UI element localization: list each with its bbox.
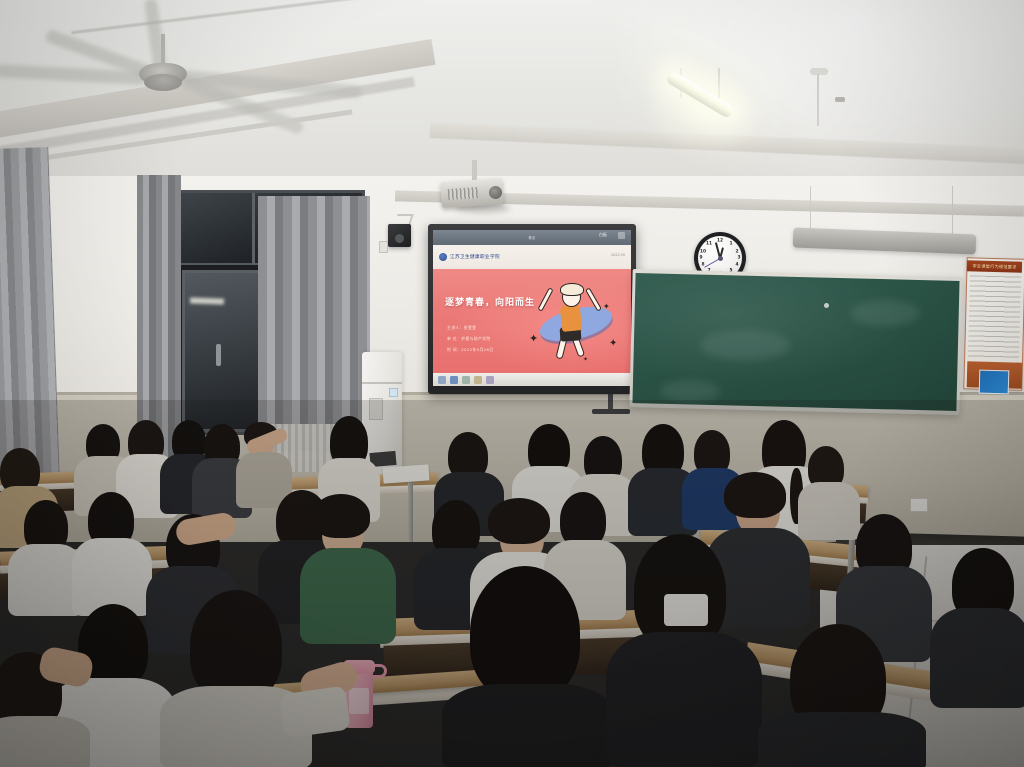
desk-leg xyxy=(408,482,413,542)
clock-number: 12 xyxy=(717,239,723,244)
sparkle-icon: ✦ xyxy=(603,303,610,311)
poster-body-text xyxy=(968,275,1021,358)
air-conditioner-seam xyxy=(362,382,402,384)
clock-number: 9 xyxy=(699,256,702,261)
chalk-smudge xyxy=(700,330,790,360)
notes-icon[interactable] xyxy=(474,376,482,384)
ceiling-fan-hub xyxy=(144,74,182,91)
clock-number: 1 xyxy=(729,242,732,247)
speaker-cone-icon xyxy=(395,234,404,243)
ceiling-pipe-cap xyxy=(810,68,828,75)
wall-junction-box xyxy=(379,241,388,253)
smart-board-screen[interactable]: 希沃 白板 PPT 放映 批注 江苏卫生健康职业学院 2022.09 xyxy=(433,230,631,386)
slide-meta-date: 时 间：2022年9月26日 xyxy=(447,347,494,353)
chalk-smudge xyxy=(660,380,720,402)
slide-meta-unit: 单 位：护理与助产学院 xyxy=(447,336,494,342)
poster-heading: 学生课堂行为规范要求 xyxy=(967,260,1022,272)
air-conditioner-panel xyxy=(369,398,383,420)
curtain-right[interactable] xyxy=(258,196,370,451)
clock-number: 4 xyxy=(735,263,738,268)
sparkle-icon: ✦ xyxy=(583,357,588,363)
slide-title: 逐梦青春，向阳而生 xyxy=(445,295,535,308)
power-outlet-icon[interactable] xyxy=(910,498,928,512)
clock-number: 11 xyxy=(706,242,712,247)
illustration-shirt xyxy=(560,304,583,332)
smartboard-close-icon[interactable] xyxy=(618,232,625,239)
smartboard-taskbar xyxy=(433,373,631,386)
qr-code-icon xyxy=(979,370,1010,395)
ceiling-sensor-icon xyxy=(835,97,845,102)
bottle-label xyxy=(349,688,369,714)
ceiling-light-wash xyxy=(604,0,1024,200)
clock-number: 2 xyxy=(735,250,738,255)
paper-sheet xyxy=(382,464,429,483)
ceiling-pipe xyxy=(817,74,819,126)
window-handle[interactable] xyxy=(216,344,221,366)
slide-school-name: 江苏卫生健康职业学院 xyxy=(450,254,500,260)
sparkle-icon: ✦ xyxy=(529,333,538,344)
blackboard-light-wire xyxy=(810,186,811,234)
slide-meta-speaker: 主讲人：张雯雯 xyxy=(447,325,494,331)
settings-icon[interactable] xyxy=(486,376,494,384)
folder-icon[interactable] xyxy=(462,376,470,384)
chalkboard-magnet-icon xyxy=(824,303,829,308)
presentation-slide: 江苏卫生健康职业学院 2022.09 ✦ ✦ ✦ ✦ 逐梦青春，向阳而生 xyxy=(433,245,631,373)
air-conditioner-display xyxy=(389,388,398,397)
window-glare xyxy=(190,297,224,304)
smartboard-title: 希沃 xyxy=(529,235,536,240)
sleeve xyxy=(279,686,350,739)
smartboard-tab[interactable]: 白板 xyxy=(599,232,607,238)
clock-number: 10 xyxy=(700,250,706,255)
projector-vent xyxy=(448,187,479,200)
school-logo-icon xyxy=(439,253,447,261)
sparkle-icon: ✦ xyxy=(609,339,617,349)
clock-center-pin xyxy=(718,256,723,261)
ppt-icon[interactable] xyxy=(438,376,446,384)
illustration-hair xyxy=(560,283,584,296)
smartboard-topbar: 希沃 白板 xyxy=(433,230,631,245)
slide-date-corner: 2022.09 xyxy=(611,253,625,257)
clock-number: 3 xyxy=(737,256,740,261)
browser-icon[interactable] xyxy=(450,376,458,384)
window-mullion xyxy=(252,193,255,265)
chalk-smudge xyxy=(850,300,920,326)
slide-meta-block: 主讲人：张雯雯 单 位：护理与助产学院 时 间：2022年9月26日 xyxy=(447,325,494,353)
poster-heading-text: 学生课堂行为规范要求 xyxy=(972,263,1016,270)
slide-header: 江苏卫生健康职业学院 xyxy=(433,245,631,269)
collar xyxy=(664,594,708,626)
classroom-photo: 希沃 白板 PPT 放映 批注 江苏卫生健康职业学院 2022.09 xyxy=(0,0,1024,767)
slide-body: ✦ ✦ ✦ ✦ 逐梦青春，向阳而生 主讲人：张雯雯 单 位：护理与助产学院 时 … xyxy=(433,269,631,373)
blackboard-light-wire xyxy=(952,186,953,234)
board-stand-base xyxy=(592,409,630,414)
